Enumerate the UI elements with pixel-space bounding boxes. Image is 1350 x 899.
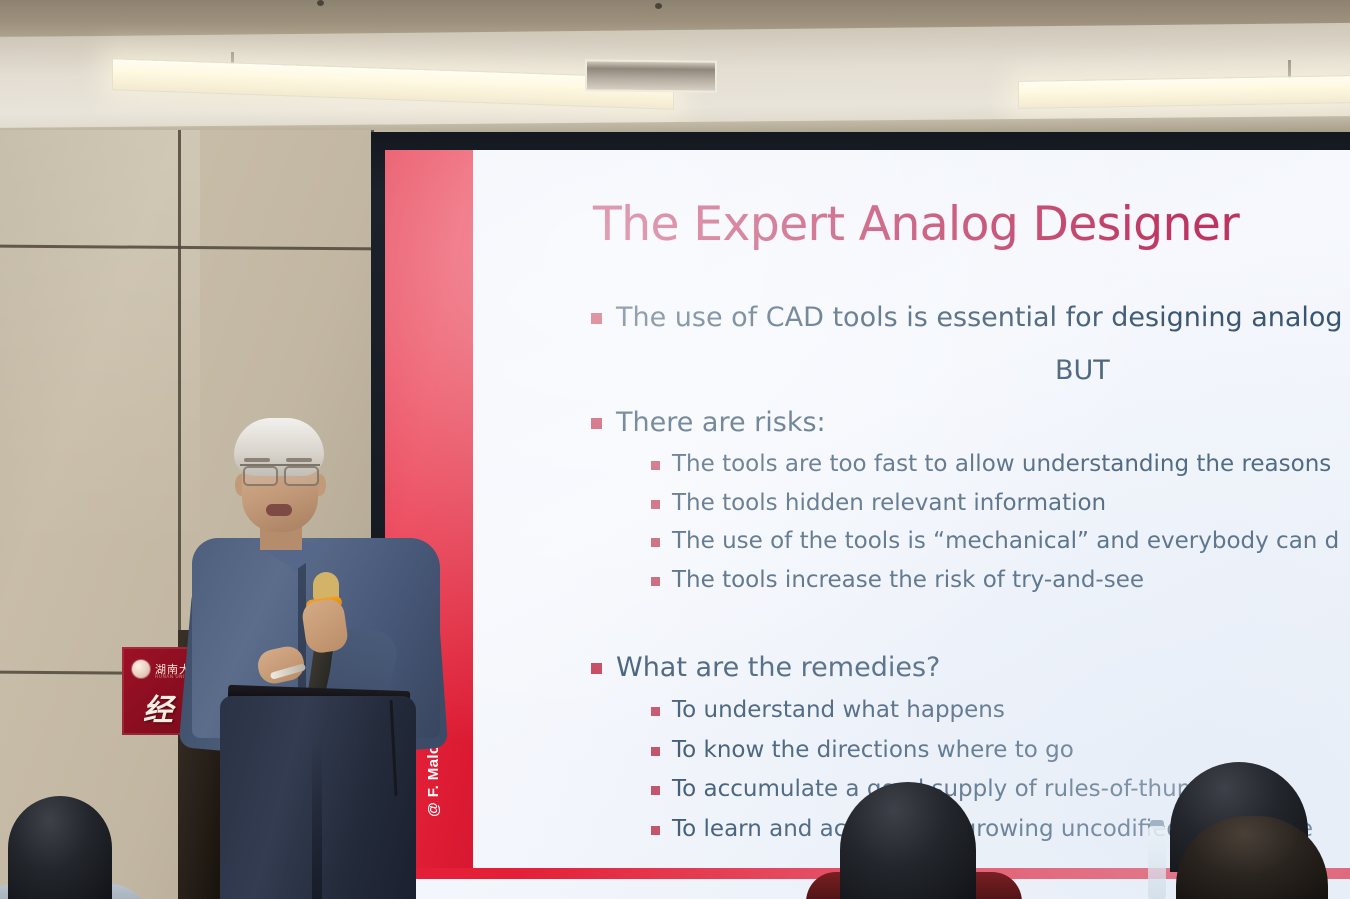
ceiling-air-vent [585, 59, 717, 92]
eyeglass-lens [243, 466, 278, 486]
bullet-square-icon [651, 461, 660, 470]
slide-bullet-level1: What are the remedies? [591, 652, 940, 683]
slide-bullet-level1: The use of CAD tools is essential for de… [591, 302, 1343, 333]
lecture-photo-scene: @ F. Maloberti The Expert Analog Designe… [0, 0, 1350, 899]
slide-bullet-level1: There are risks: [591, 407, 826, 438]
bullet-square-icon [651, 577, 660, 586]
ceiling-fixture-dot [655, 3, 662, 9]
bullet-square-icon [591, 313, 602, 324]
university-seal-icon [132, 660, 150, 678]
slide-bullet-level2: The tools are too fast to allow understa… [651, 451, 1331, 477]
bullet-square-icon [651, 826, 660, 835]
eyeglasses-icon [240, 464, 320, 483]
ceiling-fixture-dot [317, 0, 324, 6]
slide-bullet-text: The tools are too fast to allow understa… [672, 451, 1331, 477]
bullet-square-icon [651, 707, 660, 716]
water-bottle [1148, 826, 1166, 899]
presenter-hand-holding-mic [301, 597, 350, 654]
presenter-figure [180, 400, 450, 899]
eyeglass-lens [284, 466, 319, 486]
slide-bullet-text: The use of CAD tools is essential for de… [616, 302, 1343, 333]
slide-bullet-level2: To understand what happens [651, 697, 1005, 723]
audience-head [8, 796, 112, 899]
slide-bullet-level2: The tools hidden relevant information [651, 490, 1106, 516]
presenter-leg-separation [312, 742, 322, 899]
bullet-square-icon [651, 500, 660, 509]
slide-bullet-text: The tools hidden relevant information [672, 490, 1106, 516]
slide-bullet-text: To know the directions where to go [672, 737, 1074, 763]
bullet-square-icon [651, 747, 660, 756]
bullet-square-icon [651, 538, 660, 547]
slide-bullet-text: What are the remedies? [616, 652, 940, 683]
slide-bullet-level2: To know the directions where to go [651, 737, 1074, 763]
bullet-square-icon [651, 786, 660, 795]
slide-bullet-level2: The use of the tools is “mechanical” and… [651, 528, 1339, 554]
presenter-mouth [266, 504, 292, 516]
slide-bullet-text: The use of the tools is “mechanical” and… [672, 528, 1339, 554]
slide-centered-word: BUT [1055, 355, 1110, 386]
presenter-eyebrow [286, 458, 312, 462]
bullet-square-icon [591, 418, 602, 429]
bullet-square-icon [591, 663, 602, 674]
slide-title: The Expert Analog Designer [593, 197, 1239, 252]
ceiling-light-panel [1018, 75, 1350, 109]
slide-bullet-text: To understand what happens [672, 697, 1005, 723]
slide-bullet-text: There are risks: [616, 407, 826, 438]
slide-bullet-text: The tools increase the risk of try-and-s… [672, 567, 1144, 593]
presenter-eyebrow [244, 458, 270, 462]
slide-bullet-level2: The tools increase the risk of try-and-s… [651, 567, 1144, 593]
